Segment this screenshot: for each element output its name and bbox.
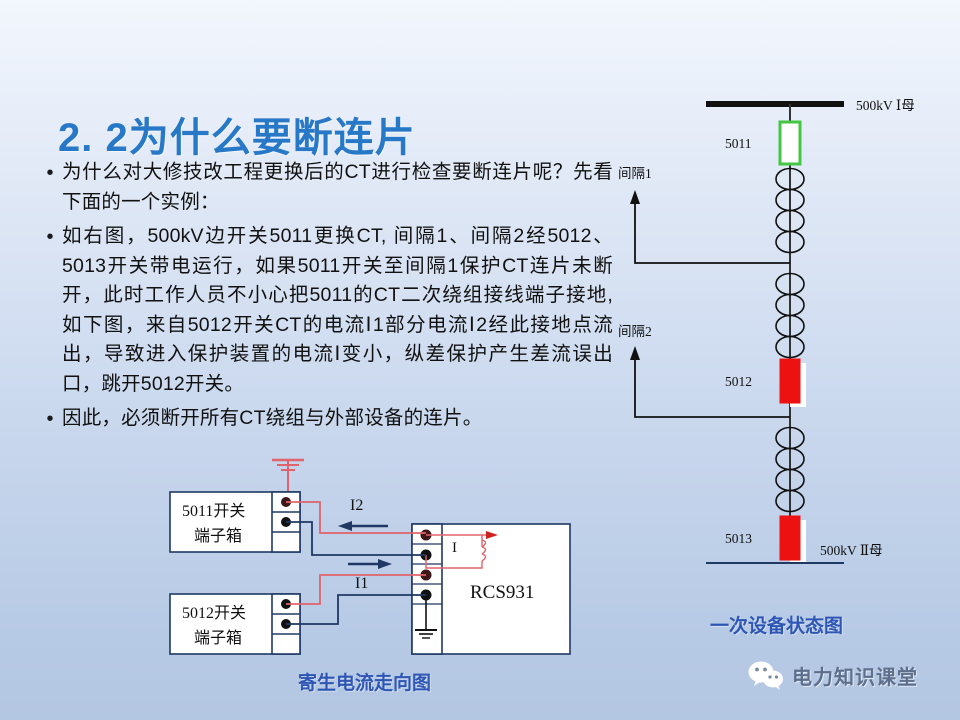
bullet-marker: • bbox=[38, 222, 62, 252]
wechat-icon bbox=[748, 660, 784, 690]
relay-rcs931: RCS931 bbox=[412, 524, 570, 654]
relay-label: RCS931 bbox=[470, 582, 534, 603]
breaker-5011-label: 5011 bbox=[725, 136, 752, 151]
parasitic-current-diagram: 5011开关 端子箱 5012开关 端子箱 bbox=[160, 448, 580, 663]
bay1-arrow-icon bbox=[630, 190, 640, 204]
current-i-label: I bbox=[452, 540, 457, 556]
bay2-branch-line bbox=[635, 358, 790, 417]
slide-root: 2. 2为什么要断连片 • 为什么对大修技改工程更换后的CT进行检查要断连片呢？… bbox=[0, 0, 960, 720]
breaker-5012-label: 5012 bbox=[725, 374, 752, 389]
list-item: • 为什么对大修技改工程更换后的CT进行检查要断连片呢？先看下面的一个实例： bbox=[38, 158, 613, 217]
bullet-list: • 为什么对大修技改工程更换后的CT进行检查要断连片呢？先看下面的一个实例： •… bbox=[38, 158, 613, 439]
bus-top-label: 500kV Ⅰ母 bbox=[856, 98, 915, 113]
current-i2-arrow-icon bbox=[338, 521, 388, 531]
terminal-box-5011-line2: 端子箱 bbox=[194, 527, 242, 545]
terminal-box-5012: 5012开关 端子箱 bbox=[170, 594, 300, 654]
parasitic-current-diagram-caption: 寄生电流走向图 bbox=[298, 668, 431, 695]
bay1-label: 间隔1 bbox=[618, 166, 652, 181]
bay2-arrow-icon bbox=[630, 346, 640, 360]
single-line-diagram: 500kV Ⅰ母 5011 间隔1 bbox=[608, 86, 960, 586]
bay1-branch-line bbox=[635, 202, 790, 263]
bullet-marker: • bbox=[38, 404, 62, 434]
bay2-label: 间隔2 bbox=[618, 324, 652, 339]
bullet-text: 如右图，500kV边开关5011更换CT, 间隔1、间隔2经5012、5013开… bbox=[62, 222, 613, 399]
bullet-text: 为什么对大修技改工程更换后的CT进行检查要断连片呢？先看下面的一个实例： bbox=[62, 158, 613, 217]
current-i2-label: I2 bbox=[350, 497, 363, 514]
ground-symbol-red-icon bbox=[272, 460, 304, 494]
breaker-5012 bbox=[780, 359, 800, 403]
breaker-5011 bbox=[780, 122, 800, 164]
bus-bottom-label: 500kV Ⅱ母 bbox=[820, 543, 883, 558]
watermark: 电力知识课堂 bbox=[748, 660, 918, 690]
terminal-box-5012-line2: 端子箱 bbox=[194, 629, 242, 647]
breaker-5013-label: 5013 bbox=[725, 531, 752, 546]
page-title: 2. 2为什么要断连片 bbox=[58, 105, 416, 163]
bullet-text: 因此，必须断开所有CT绕组与外部设备的连片。 bbox=[62, 404, 482, 434]
single-line-diagram-caption: 一次设备状态图 bbox=[710, 611, 843, 638]
current-i1-arrow-icon bbox=[348, 559, 392, 569]
terminal-box-5011-line1: 5011开关 bbox=[182, 502, 245, 520]
wire-dark-5012-to-relay bbox=[286, 595, 426, 624]
list-item: • 因此，必须断开所有CT绕组与外部设备的连片。 bbox=[38, 404, 613, 434]
terminal-box-5012-line1: 5012开关 bbox=[182, 604, 246, 622]
breaker-5013 bbox=[780, 516, 800, 560]
current-i1-label: I1 bbox=[355, 575, 368, 592]
list-item: • 如右图，500kV边开关5011更换CT, 间隔1、间隔2经5012、501… bbox=[38, 222, 613, 399]
bullet-marker: • bbox=[38, 158, 62, 188]
terminal-box-5011: 5011开关 端子箱 bbox=[170, 492, 300, 552]
watermark-text: 电力知识课堂 bbox=[792, 661, 918, 690]
